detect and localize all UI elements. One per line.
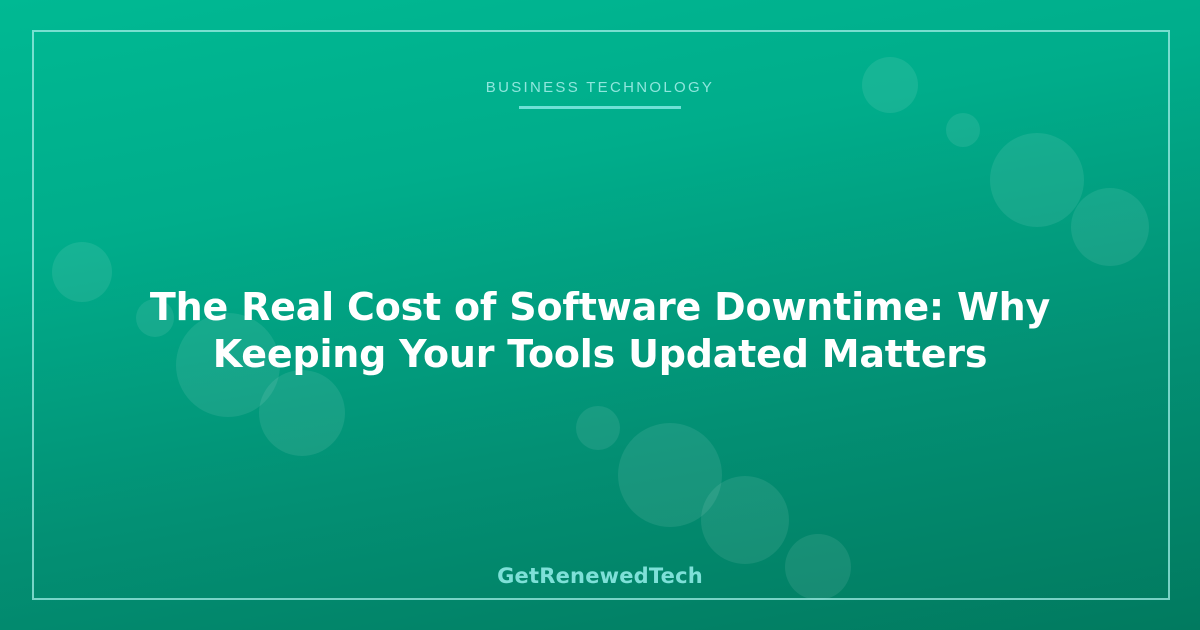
brand-name: GetRenewedTech [0,564,1200,588]
category-underline [519,106,681,109]
social-share-card: BUSINESS TECHNOLOGY The Real Cost of Sof… [0,0,1200,630]
category-block: BUSINESS TECHNOLOGY [0,78,1200,109]
page-title: The Real Cost of Software Downtime: Why … [80,284,1120,378]
category-label: BUSINESS TECHNOLOGY [486,78,714,98]
card-content: BUSINESS TECHNOLOGY The Real Cost of Sof… [0,0,1200,630]
